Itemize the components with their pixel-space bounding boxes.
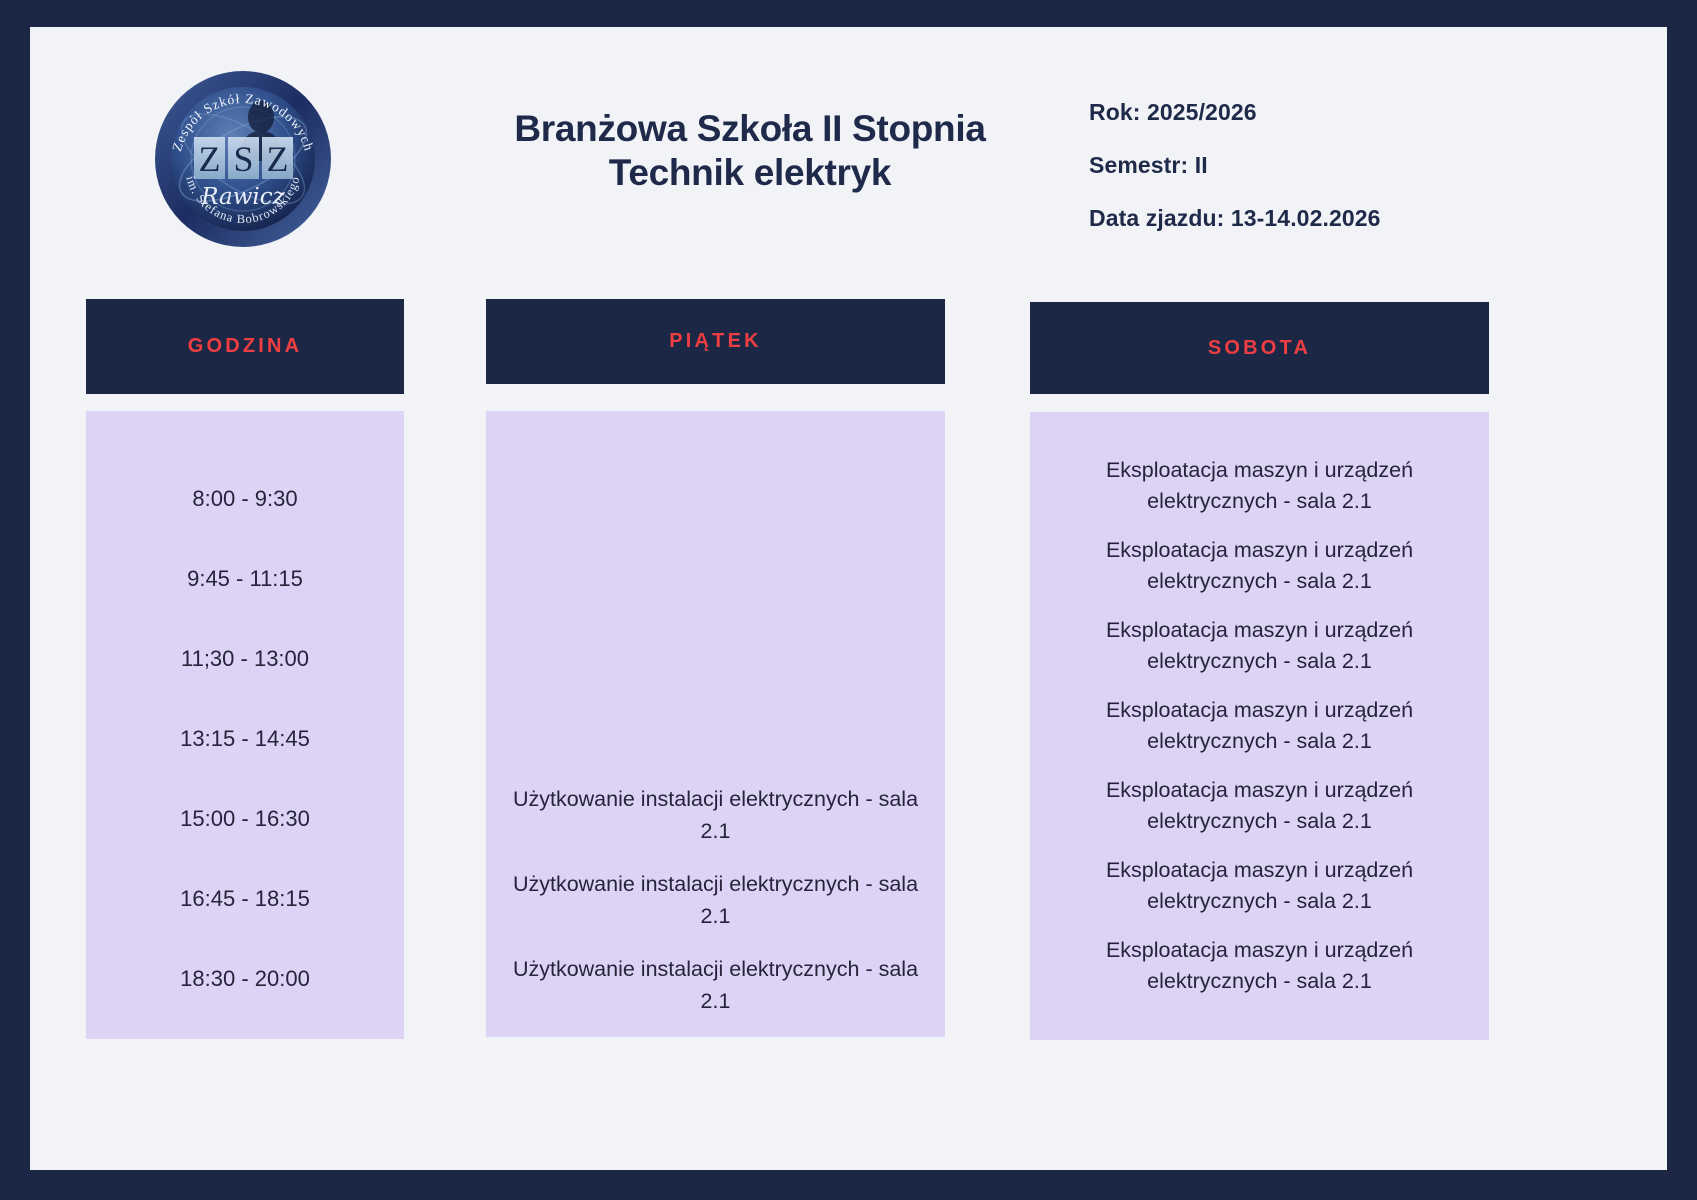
page-content: Z S Z Rawicz Zespół Szkół Zawodowych im.… — [30, 27, 1667, 1170]
hour-cell: 8:00 - 9:30 — [86, 459, 404, 539]
lesson-cell — [486, 603, 945, 688]
title-line-2: Technik elektryk — [485, 151, 1015, 195]
column-body-saturday: Eksploatacja maszyn i urządzeń elektrycz… — [1030, 412, 1489, 1040]
lesson-cell: Użytkowanie instalacji elektrycznych - s… — [486, 773, 945, 858]
hour-cell: 13:15 - 14:45 — [86, 699, 404, 779]
page-frame: Z S Z Rawicz Zespół Szkół Zawodowych im.… — [0, 0, 1697, 1200]
lesson-cell: Użytkowanie instalacji elektrycznych - s… — [486, 858, 945, 943]
lesson-cell: Eksploatacja maszyn i urządzeń elektrycz… — [1030, 846, 1489, 926]
lesson-cell — [486, 433, 945, 518]
hour-cell: 16:45 - 18:15 — [86, 859, 404, 939]
lesson-cell: Eksploatacja maszyn i urządzeń elektrycz… — [1030, 526, 1489, 606]
hour-cell: 11;30 - 13:00 — [86, 619, 404, 699]
info-school-year: Rok: 2025/2026 — [1089, 99, 1509, 126]
lesson-cell: Eksploatacja maszyn i urządzeń elektrycz… — [1030, 766, 1489, 846]
column-header-friday: PIĄTEK — [486, 299, 945, 384]
lesson-cell: Eksploatacja maszyn i urządzeń elektrycz… — [1030, 446, 1489, 526]
column-friday: PIĄTEK Użytkowanie instalacji elektryczn… — [486, 299, 945, 1037]
column-body-hours: 8:00 - 9:30 9:45 - 11:15 11;30 - 13:00 1… — [86, 411, 404, 1039]
school-logo-icon: Z S Z Rawicz Zespół Szkół Zawodowych im.… — [153, 69, 333, 249]
page-title: Branżowa Szkoła II Stopnia Technik elekt… — [485, 107, 1015, 194]
column-body-friday: Użytkowanie instalacji elektrycznych - s… — [486, 411, 945, 1037]
session-info: Rok: 2025/2026 Semestr: II Data zjazdu: … — [1089, 99, 1509, 232]
hour-cell: 18:30 - 20:00 — [86, 939, 404, 1019]
column-hours: GODZINA 8:00 - 9:30 9:45 - 11:15 11;30 -… — [86, 299, 404, 1039]
svg-text:Z: Z — [267, 139, 289, 179]
svg-text:S: S — [233, 139, 253, 179]
column-saturday: SOBOTA Eksploatacja maszyn i urządzeń el… — [1030, 299, 1489, 1040]
lesson-cell: Eksploatacja maszyn i urządzeń elektrycz… — [1030, 686, 1489, 766]
column-header-saturday: SOBOTA — [1030, 302, 1489, 394]
lesson-cell — [486, 688, 945, 773]
schedule-table: GODZINA 8:00 - 9:30 9:45 - 11:15 11;30 -… — [30, 299, 1667, 1039]
column-header-hours: GODZINA — [86, 299, 404, 394]
info-session-date: Data zjazdu: 13-14.02.2026 — [1089, 205, 1509, 232]
lesson-cell: Eksploatacja maszyn i urządzeń elektrycz… — [1030, 926, 1489, 1006]
hour-cell: 9:45 - 11:15 — [86, 539, 404, 619]
page-header: Z S Z Rawicz Zespół Szkół Zawodowych im.… — [30, 27, 1667, 307]
lesson-cell: Użytkowanie instalacji elektrycznych - s… — [486, 943, 945, 1028]
lesson-cell: Eksploatacja maszyn i urządzeń elektrycz… — [1030, 606, 1489, 686]
info-semester: Semestr: II — [1089, 152, 1509, 179]
lesson-cell — [486, 518, 945, 603]
hour-cell: 15:00 - 16:30 — [86, 779, 404, 859]
svg-text:Z: Z — [199, 139, 221, 179]
title-line-1: Branżowa Szkoła II Stopnia — [485, 107, 1015, 151]
